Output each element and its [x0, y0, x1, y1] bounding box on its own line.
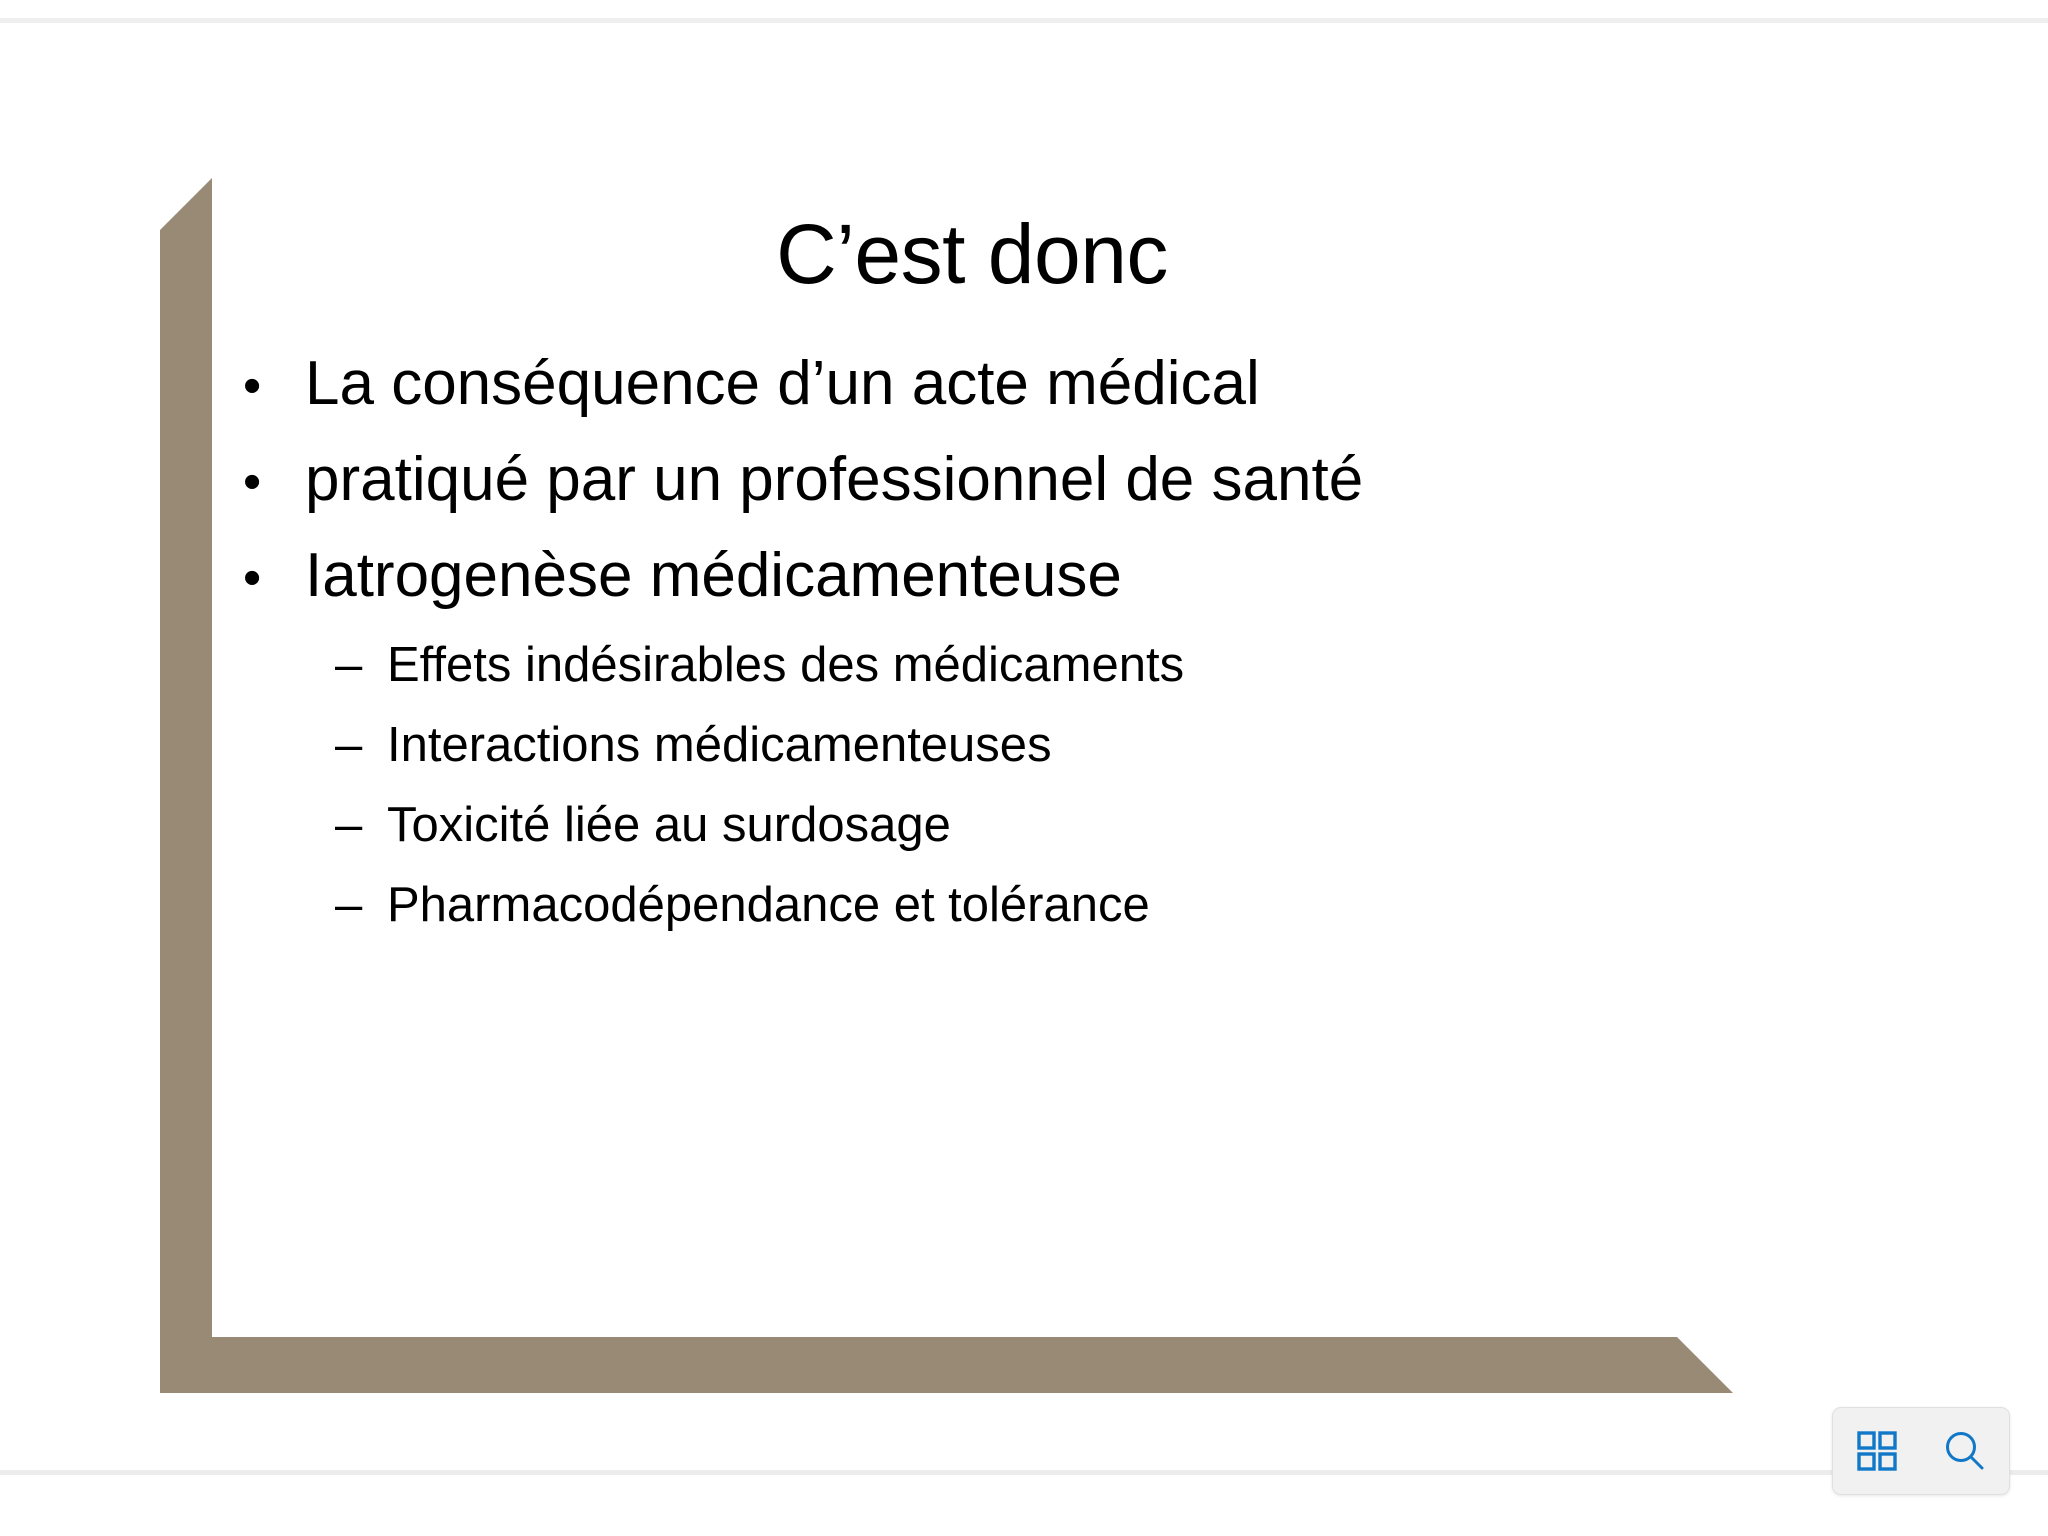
viewer-bottom-divider [0, 1470, 2048, 1475]
bullet-marker: • [243, 449, 305, 510]
sub-bullet-item: – Pharmacodépendance et tolérance [243, 881, 1743, 930]
sub-bullet-item: – Interactions médicamenteuses [243, 721, 1743, 770]
slide-canvas: C’est donc • La conséquence d’un acte mé… [0, 23, 2048, 1470]
sub-bullet-text: Toxicité liée au surdosage [387, 801, 951, 850]
sub-bullet-marker: – [335, 721, 387, 770]
zoom-search-button[interactable] [1935, 1421, 1995, 1481]
sub-bullet-text: Effets indésirables des médicaments [387, 641, 1184, 690]
bullet-item: • pratiqué par un professionnel de santé [243, 449, 1743, 511]
bullet-text: Iatrogenèse médicamenteuse [305, 545, 1122, 607]
grid-view-button[interactable] [1847, 1421, 1907, 1481]
sub-bullet-item: – Effets indésirables des médicaments [243, 641, 1743, 690]
sub-bullet-marker: – [335, 801, 387, 850]
viewer-mini-toolbar [1832, 1407, 2010, 1495]
sub-bullet-item: – Toxicité liée au surdosage [243, 801, 1743, 850]
sub-bullet-text: Interactions médicamenteuses [387, 721, 1052, 770]
bullet-item: • La conséquence d’un acte médical [243, 353, 1743, 415]
sub-bullet-marker: – [335, 641, 387, 690]
slide-title: C’est donc [212, 208, 1732, 300]
bullet-text: La conséquence d’un acte médical [305, 353, 1260, 415]
bullet-item: • Iatrogenèse médicamenteuse [243, 545, 1743, 607]
bullet-marker: • [243, 353, 305, 414]
grid-view-icon [1855, 1429, 1899, 1473]
search-icon [1942, 1428, 1988, 1474]
sub-bullet-marker: – [335, 881, 387, 930]
decorative-frame-left [160, 178, 212, 1393]
bullet-marker: • [243, 545, 305, 606]
bullet-text: pratiqué par un professionnel de santé [305, 449, 1363, 511]
sub-bullet-text: Pharmacodépendance et tolérance [387, 881, 1150, 930]
decorative-frame-bottom [160, 1337, 1733, 1393]
slide-body-list: • La conséquence d’un acte médical • pra… [243, 353, 1743, 961]
